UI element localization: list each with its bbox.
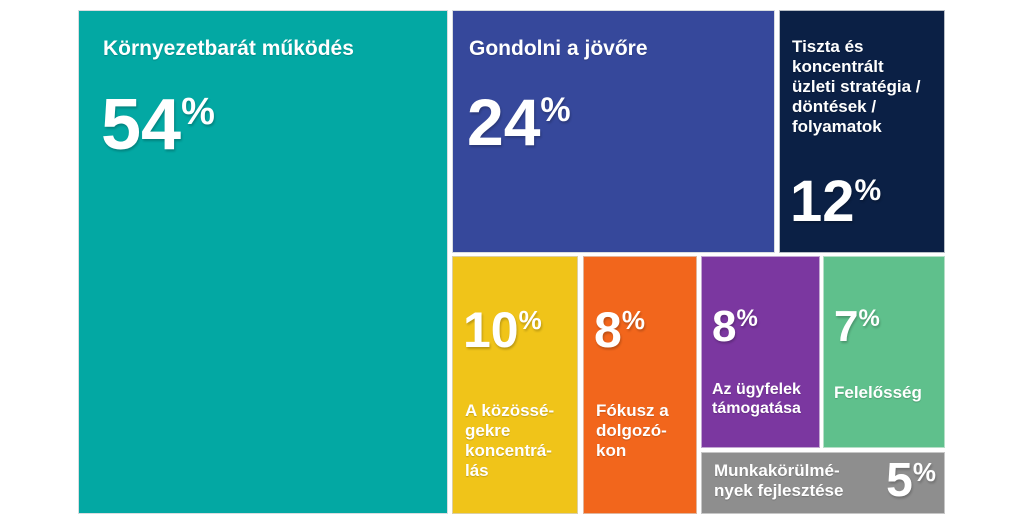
tile-percent-sign-employees: % [622,307,645,333]
tile-content-strategy: Tiszta és koncentrált üzleti stratégia /… [780,11,944,252]
tile-value-employees: 8% [594,305,645,355]
tile-label-future: Gondolni a jövőre [469,37,648,62]
tile-value-customers: 8% [712,305,758,349]
tile-percent-sign-future: % [540,93,570,127]
tile-content-eco: Környezetbarát működés 54% [79,11,447,513]
tile-percent-sign-customers: % [736,307,757,331]
tile-content-future: Gondolni a jövőre 24% [453,11,774,252]
tile-percent-sign-community: % [519,307,542,333]
tile-number-strategy: 12 [790,173,855,231]
tile-percent-sign-eco: % [181,93,215,131]
treemap-tile-future[interactable]: Gondolni a jövőre 24% [452,10,775,253]
tile-label-workplace: Munkakörülmé- nyek fejlesztése [714,461,843,501]
treemap-tile-workplace[interactable]: Munkakörülmé- nyek fejlesztése 5% [701,452,945,514]
tile-value-community: 10% [463,305,542,355]
treemap-tile-employees[interactable]: 8% Fókusz a dolgozó- kon [583,256,697,514]
tile-number-customers: 8 [712,305,736,349]
tile-number-employees: 8 [594,305,622,355]
tile-content-employees: 8% Fókusz a dolgozó- kon [584,257,696,513]
tile-value-strategy: 12% [790,173,881,231]
tile-number-eco: 54 [101,89,181,161]
tile-number-responsibility: 7 [834,305,858,349]
treemap-tile-strategy[interactable]: Tiszta és koncentrált üzleti stratégia /… [779,10,945,253]
tile-label-responsibility: Felelősség [834,383,922,403]
tile-percent-sign-workplace: % [913,459,936,485]
treemap-tile-responsibility[interactable]: 7% Felelősség [823,256,945,448]
treemap-chart: Környezetbarát működés 54% Gondolni a jö… [0,0,1024,524]
tile-label-community: A közössé- gekre koncentrá- lás [465,401,554,481]
treemap-tile-eco[interactable]: Környezetbarát működés 54% [78,10,448,514]
tile-value-workplace: 5% [886,457,936,505]
tile-label-eco: Környezetbarát működés [103,37,354,62]
tile-label-customers: Az ügyfelek támogatása [712,381,801,419]
tile-label-strategy: Tiszta és koncentrált üzleti stratégia /… [792,37,920,137]
tile-value-eco: 54% [101,89,215,161]
tile-number-future: 24 [467,89,540,155]
tile-content-customers: 8% Az ügyfelek támogatása [702,257,819,447]
treemap-tile-community[interactable]: 10% A közössé- gekre koncentrá- lás [452,256,578,514]
tile-number-workplace: 5 [886,457,913,505]
tile-percent-sign-responsibility: % [858,307,879,331]
tile-content-community: 10% A közössé- gekre koncentrá- lás [453,257,577,513]
tile-content-workplace: Munkakörülmé- nyek fejlesztése 5% [702,453,944,513]
tile-value-future: 24% [467,89,571,155]
tile-label-employees: Fókusz a dolgozó- kon [596,401,669,461]
tile-value-responsibility: 7% [834,305,880,349]
treemap-tile-customers[interactable]: 8% Az ügyfelek támogatása [701,256,820,448]
tile-number-community: 10 [463,305,519,355]
tile-content-responsibility: 7% Felelősség [824,257,944,447]
tile-percent-sign-strategy: % [855,176,882,206]
